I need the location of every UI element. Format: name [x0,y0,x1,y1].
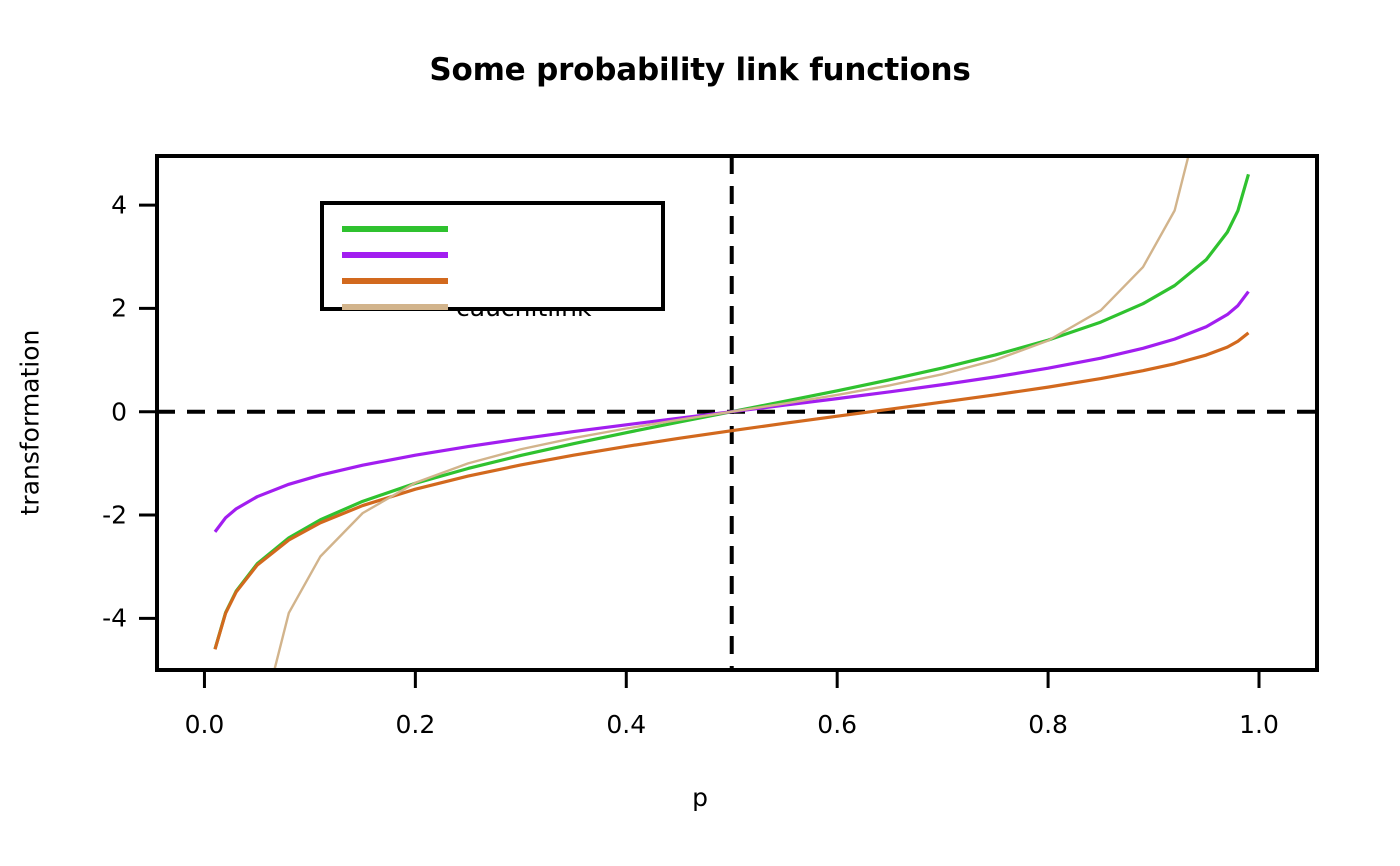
figure-canvas: Some probability link functions transfor… [0,0,1400,866]
axis-tick-marks [139,205,1259,688]
plot-area-svg [0,0,1400,866]
legend [322,203,663,309]
